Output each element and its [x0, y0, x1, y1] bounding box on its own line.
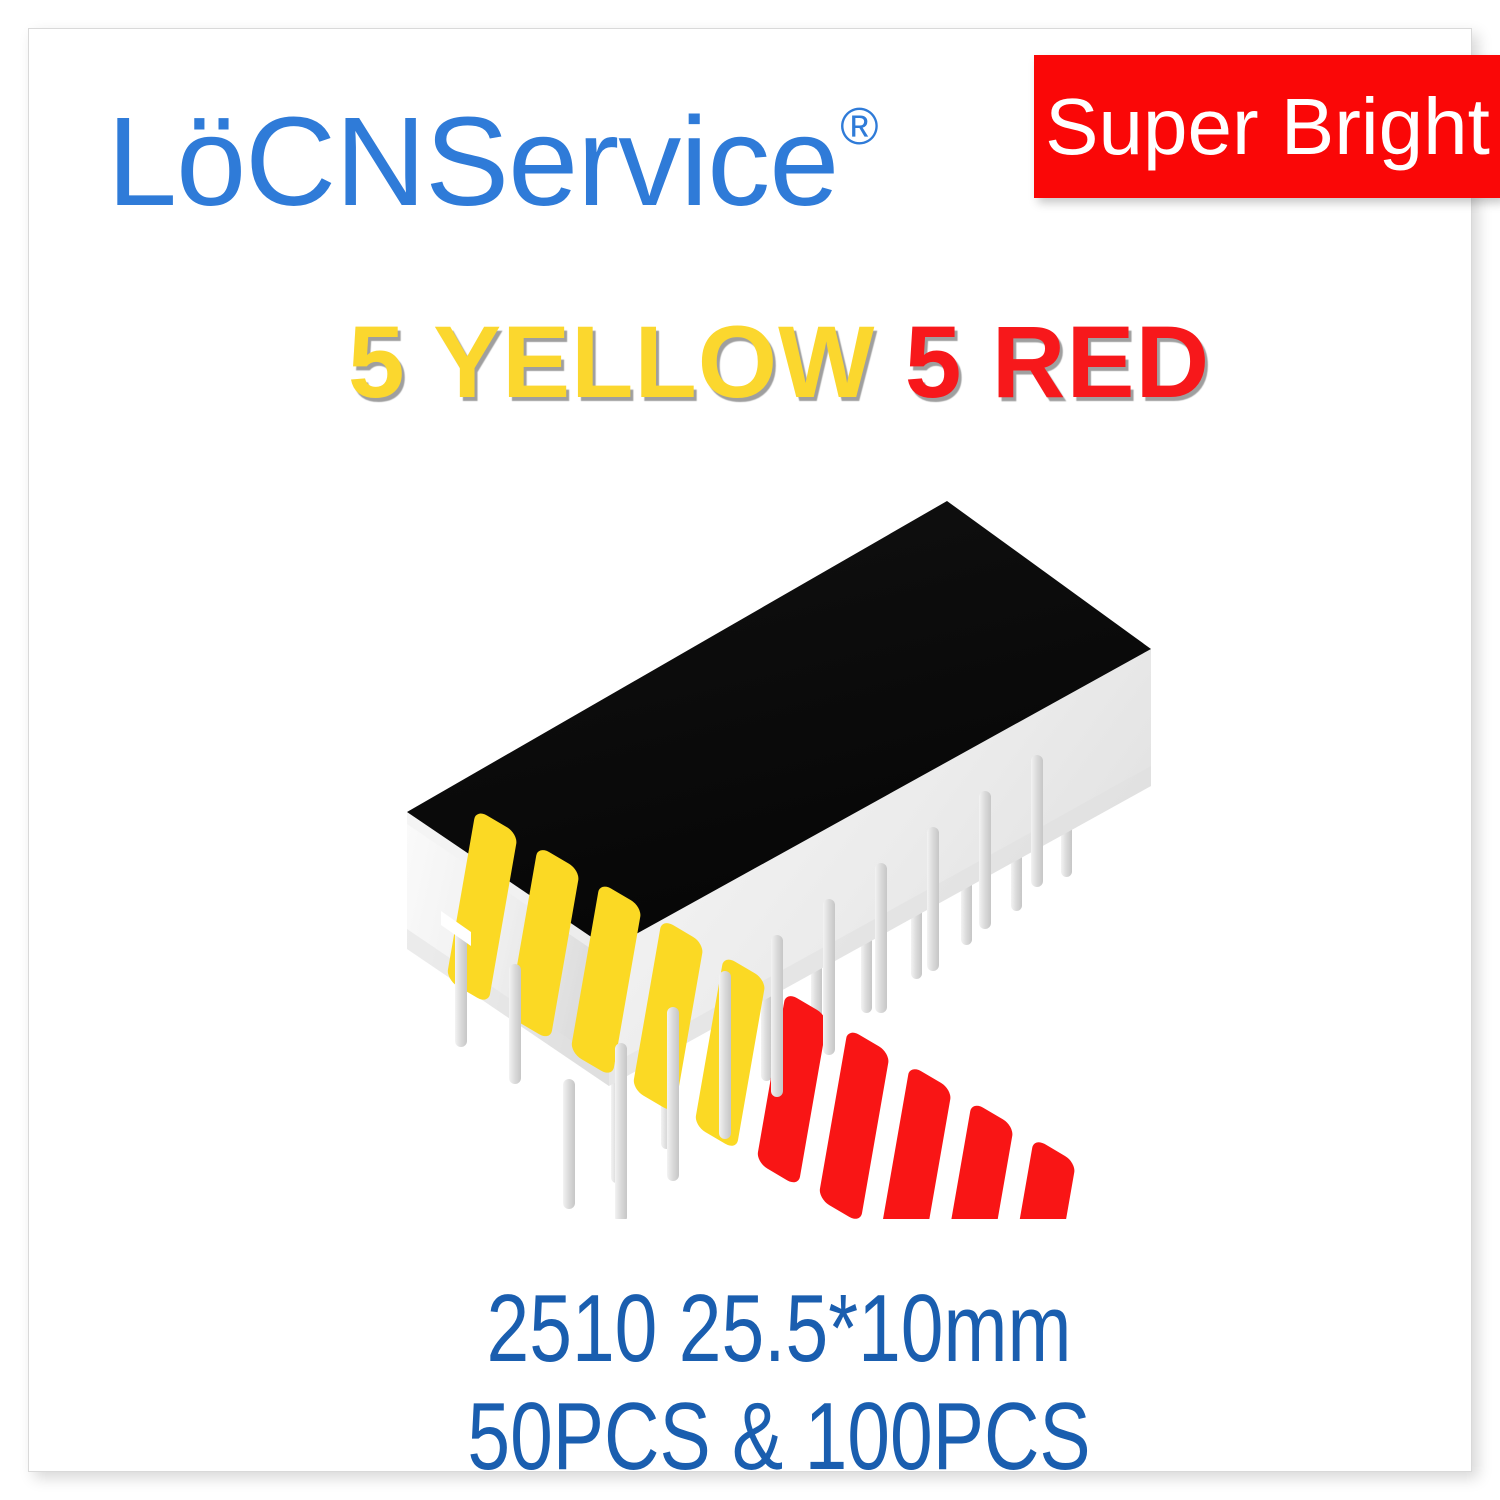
headline-yellow-part: 5 YELLOW [348, 305, 905, 419]
product-image-canvas: LöCNService® Super Bright 5 YELLOW 5 RED [0, 0, 1500, 1500]
product-card-frame: LöCNService® Super Bright 5 YELLOW 5 RED [28, 28, 1472, 1472]
led-segment-9 [942, 1101, 1014, 1219]
registered-trademark-icon: ® [840, 98, 877, 156]
spec-line-model: 2510 25.5*10mm [179, 1281, 1379, 1377]
brand-name: LöCNService [107, 91, 838, 232]
super-bright-badge: Super Bright [1034, 55, 1500, 198]
brand-logo: LöCNService® [107, 99, 876, 225]
super-bright-badge-label: Super Bright [1045, 82, 1490, 171]
led-segment-8 [880, 1065, 952, 1219]
led-segment-10 [1004, 1138, 1076, 1219]
led-segment-7 [818, 1028, 890, 1219]
led-bargraph-product-photo [359, 459, 1199, 1219]
color-headline: 5 YELLOW 5 RED [29, 311, 1500, 413]
headline-red-part: 5 RED [905, 305, 1210, 419]
spec-line-quantity: 50PCS & 100PCS [179, 1389, 1379, 1485]
